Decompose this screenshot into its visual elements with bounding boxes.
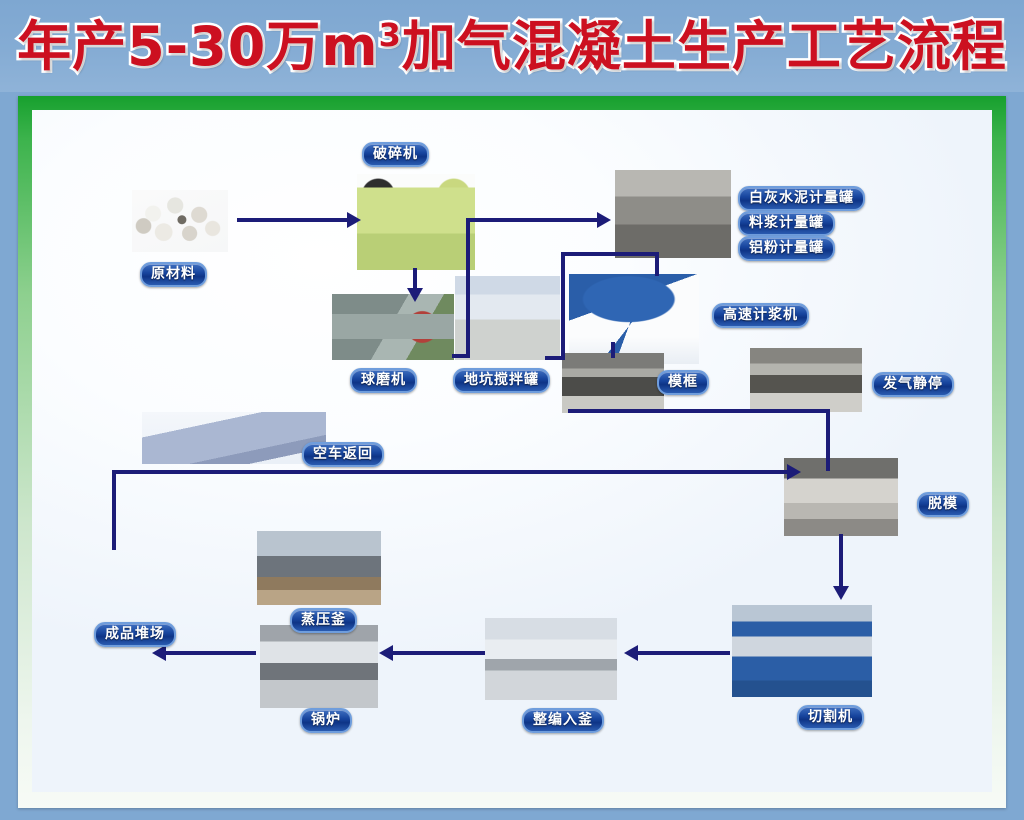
cutting-machine-photo: [732, 605, 872, 697]
connector-pit-base: [545, 356, 565, 360]
connector-mixer-to-mold: [611, 342, 615, 358]
label-lime-cement-tank[interactable]: 白灰水泥计量罐: [738, 186, 865, 211]
connector-group-to-autoclave: [387, 651, 485, 655]
arrow-crusher-to-ballmill: [407, 288, 423, 302]
connector-mixer-drop: [655, 252, 659, 276]
arrow-raw-to-crusher: [347, 212, 361, 228]
label-boiler[interactable]: 锅炉: [300, 708, 352, 733]
connector-pit-riser: [561, 252, 565, 358]
label-product-yard[interactable]: 成品堆场: [94, 622, 176, 647]
page-title: 年产5-30万m3加气混凝土生产工艺流程: [17, 19, 1007, 74]
label-cutting-machine[interactable]: 切割机: [797, 705, 864, 730]
label-mold-frame[interactable]: 模框: [657, 370, 709, 395]
arrow-demold-to-cutter: [833, 586, 849, 600]
label-pit-mixer[interactable]: 地坑搅拌罐: [453, 368, 550, 393]
pit-mixing-tank-photo: [455, 276, 560, 360]
label-high-speed-mixer[interactable]: 高速计浆机: [712, 303, 809, 328]
flow-diagram-canvas: 原材料 破碎机 球磨机 地坑搅拌罐 白灰水泥计量罐 料浆计量罐 铝粉计量罐 高速…: [32, 110, 992, 792]
connector-ballmill-riser: [466, 218, 470, 358]
boiler-photo: [260, 625, 378, 708]
connector-empty-cart-riser: [112, 470, 116, 550]
mold-frame-photo: [562, 353, 664, 413]
label-raw-material[interactable]: 原材料: [140, 262, 207, 287]
connector-mold-to-rest: [568, 409, 830, 413]
connector-raw-to-crusher: [237, 218, 349, 222]
label-gas-rest[interactable]: 发气静停: [872, 372, 954, 397]
connector-to-metering-tanks: [466, 218, 601, 222]
title-superscript: 3: [379, 16, 402, 54]
label-ball-mill[interactable]: 球磨机: [350, 368, 417, 393]
raw-material-rocks-photo: [132, 190, 228, 252]
poster-title-bar: 年产5-30万m3加气混凝土生产工艺流程: [0, 0, 1024, 92]
process-flow-poster: 年产5-30万m3加气混凝土生产工艺流程: [0, 0, 1024, 820]
grouping-into-autoclave-photo: [485, 618, 617, 700]
label-demold[interactable]: 脱模: [917, 492, 969, 517]
demolding-crane-photo: [784, 458, 898, 536]
connector-pit-to-mixer: [561, 252, 659, 256]
gas-forming-rest-photo: [750, 348, 862, 412]
arrow-cutter-to-group: [624, 645, 638, 661]
empty-cart-photo: [142, 412, 326, 464]
ball-mill-photo: [332, 294, 454, 360]
autoclave-vessel-photo: [257, 531, 381, 605]
jaw-crusher-photo: [357, 174, 475, 270]
arrow-to-metering-tanks: [597, 212, 611, 228]
arrow-empty-cart-to-demold: [787, 464, 801, 480]
label-empty-cart-return[interactable]: 空车返回: [302, 442, 384, 467]
arrow-group-to-autoclave: [379, 645, 393, 661]
metering-tanks-photo: [615, 170, 731, 258]
connector-cutter-to-group: [632, 651, 730, 655]
connector-ballmill-base: [452, 354, 470, 358]
label-group-into-autoclave[interactable]: 整编入釜: [522, 708, 604, 733]
connector-rest-drop: [826, 409, 830, 471]
connector-demold-to-cutter: [839, 534, 843, 590]
connector-empty-cart-return: [112, 470, 794, 474]
connector-autoclave-to-yard: [160, 651, 256, 655]
label-slurry-tank[interactable]: 料浆计量罐: [738, 211, 835, 236]
diagram-frame: 原材料 破碎机 球磨机 地坑搅拌罐 白灰水泥计量罐 料浆计量罐 铝粉计量罐 高速…: [18, 96, 1006, 808]
title-rest-text: 加气混凝土生产工艺流程: [402, 15, 1007, 78]
label-autoclave[interactable]: 蒸压釜: [290, 608, 357, 633]
label-crusher[interactable]: 破碎机: [362, 142, 429, 167]
title-main-text: 年产5-30万m: [17, 15, 378, 78]
arrow-autoclave-to-yard: [152, 645, 166, 661]
label-aluminum-tank[interactable]: 铝粉计量罐: [738, 236, 835, 261]
high-speed-slurry-mixer-photo: [569, 274, 699, 364]
